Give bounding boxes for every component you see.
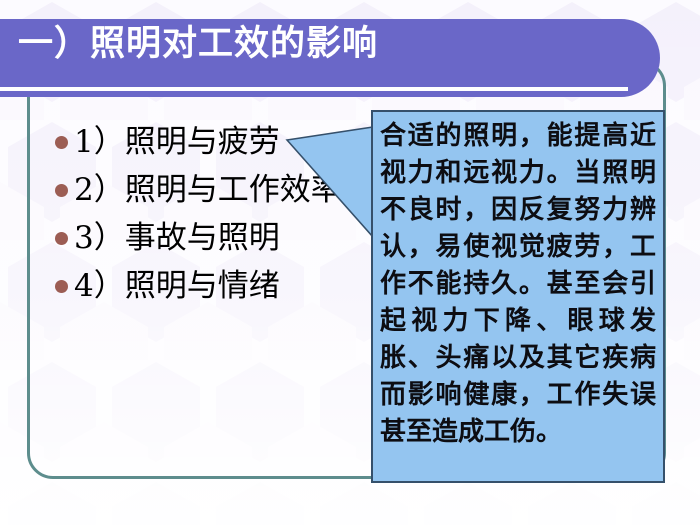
list-item-label: 3）事故与照明 <box>74 221 280 255</box>
bullet-dot-icon <box>55 184 68 197</box>
list-item-label: 4）照明与情绪 <box>74 269 280 303</box>
page-title: 一）照明对工效的影响 <box>18 24 378 64</box>
title-banner-rule <box>0 87 628 91</box>
slide-canvas: 一）照明对工效的影响 1）照明与疲劳 2）照明与工作效率 3）事故与照明 4）照… <box>0 0 700 525</box>
callout-text: 合适的照明，能提高近视力和远视力。当照明不良时，因反复努力辨认，易使视觉疲劳，工… <box>380 118 656 451</box>
list-item-label: 1）照明与疲劳 <box>74 125 280 159</box>
bullet-dot-icon <box>55 280 68 293</box>
bullet-dot-icon <box>55 136 68 149</box>
callout-pointer-arrow <box>280 125 380 240</box>
bullet-dot-icon <box>55 232 68 245</box>
list-item[interactable]: 4）照明与情绪 <box>55 262 342 310</box>
callout-textbox[interactable]: 合适的照明，能提高近视力和远视力。当照明不良时，因反复努力辨认，易使视觉疲劳，工… <box>371 110 665 483</box>
